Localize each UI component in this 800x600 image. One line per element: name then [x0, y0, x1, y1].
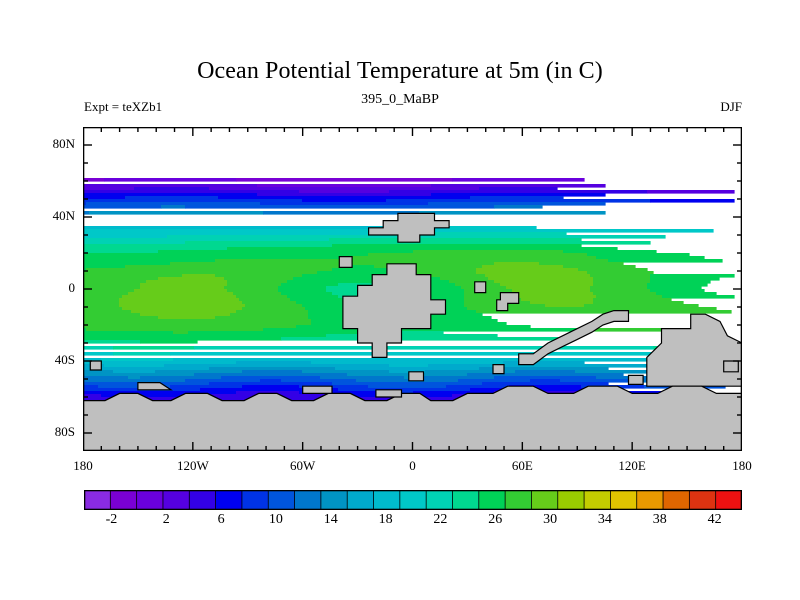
x-tick-label: 60E — [487, 458, 557, 474]
x-tick-label: 120W — [158, 458, 228, 474]
experiment-label: Expt = teXZb1 — [84, 99, 162, 115]
colorbar — [84, 490, 742, 510]
x-tick-label: 180 — [48, 458, 118, 474]
colorbar-tick-label: 34 — [580, 512, 630, 528]
map-plot-area — [83, 127, 742, 451]
y-tick-label: 40N — [29, 208, 75, 224]
colorbar-tick-label: 10 — [251, 512, 301, 528]
colorbar-tick-label: 6 — [196, 512, 246, 528]
colorbar-tick-label: -2 — [86, 512, 136, 528]
colorbar-swatches — [84, 490, 742, 510]
colorbar-tick-label: 22 — [415, 512, 465, 528]
colorbar-tick-label: 2 — [141, 512, 191, 528]
y-tick-label: 40S — [29, 352, 75, 368]
page-title: Ocean Potential Temperature at 5m (in C) — [0, 58, 800, 85]
colorbar-tick-label: 26 — [470, 512, 520, 528]
y-tick-label: 80N — [29, 136, 75, 152]
colorbar-tick-label: 18 — [361, 512, 411, 528]
figure-canvas: Ocean Potential Temperature at 5m (in C)… — [0, 0, 800, 600]
colorbar-tick-label: 42 — [690, 512, 740, 528]
y-tick-label: 0 — [29, 280, 75, 296]
y-tick-label: 80S — [29, 424, 75, 440]
colorbar-tick-label: 14 — [306, 512, 356, 528]
colorbar-tick-label: 38 — [635, 512, 685, 528]
x-tick-label: 60W — [268, 458, 338, 474]
colorbar-tick-label: 30 — [525, 512, 575, 528]
x-tick-label: 0 — [378, 458, 448, 474]
x-tick-label: 120E — [597, 458, 667, 474]
x-tick-label: 180 — [707, 458, 777, 474]
season-label: DJF — [720, 99, 742, 115]
temperature-field — [83, 127, 742, 451]
